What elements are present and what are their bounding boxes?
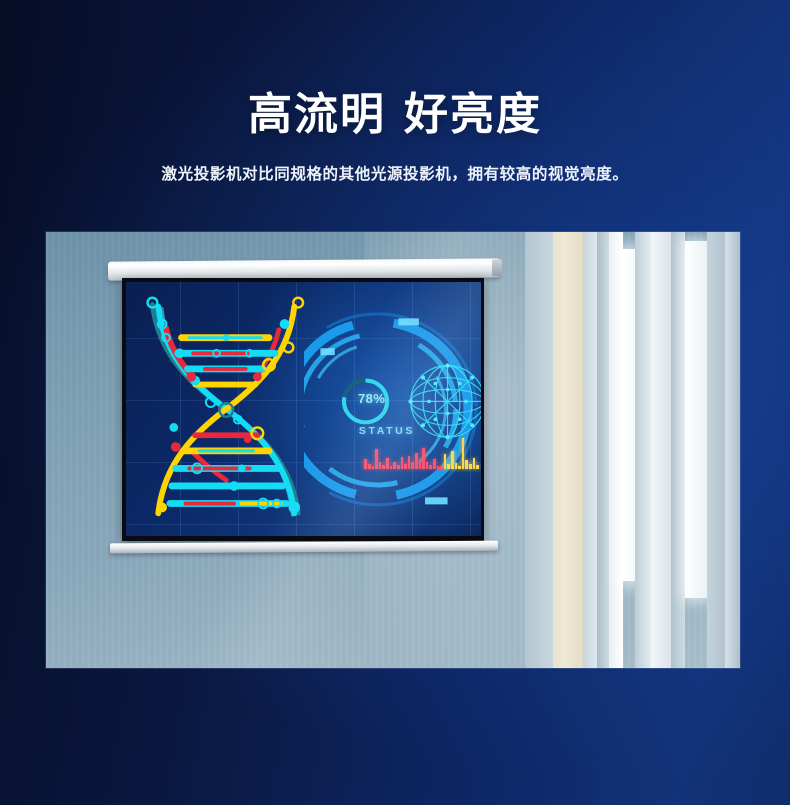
bar-7 bbox=[386, 458, 389, 469]
window-frame-right bbox=[671, 232, 685, 668]
bar-12 bbox=[404, 464, 407, 469]
bar-13 bbox=[408, 456, 411, 469]
headline-part-1: 高流明 bbox=[248, 90, 386, 139]
projection-screen-unit: 78% STATUS bbox=[108, 260, 500, 552]
bar-22 bbox=[440, 466, 443, 468]
bar-3 bbox=[372, 466, 375, 469]
bar-24 bbox=[447, 464, 450, 468]
hud-svg bbox=[304, 290, 482, 529]
window-frame-left bbox=[597, 232, 609, 668]
bar-5 bbox=[379, 462, 382, 468]
hud-status-label: STATUS bbox=[359, 425, 415, 437]
bar-11 bbox=[401, 457, 404, 469]
bar-19 bbox=[429, 465, 432, 469]
hud-bar-chart bbox=[364, 438, 478, 469]
window-bright-1 bbox=[609, 232, 623, 668]
bar-31 bbox=[473, 458, 476, 469]
page-subtitle: 激光投影机对比同规格的其他光源投影机，拥有较高的视觉亮度。 bbox=[0, 162, 790, 184]
bar-15 bbox=[415, 453, 418, 469]
bar-1 bbox=[364, 459, 367, 468]
headline-part-2: 好亮度 bbox=[404, 90, 542, 139]
bar-2 bbox=[368, 464, 371, 468]
bar-27 bbox=[458, 466, 461, 469]
bar-29 bbox=[465, 460, 468, 469]
roller-end-cap-icon bbox=[492, 259, 502, 276]
window-curtain-column bbox=[525, 232, 740, 668]
dna-double-helix-graphic bbox=[133, 287, 318, 531]
bar-28 bbox=[462, 438, 465, 469]
hud-percent-label: 78% bbox=[358, 391, 386, 406]
curtain-strip-2 bbox=[583, 232, 597, 668]
curtain-strip-3 bbox=[707, 232, 725, 668]
hud-graphic: 78% STATUS bbox=[304, 290, 482, 529]
bar-32 bbox=[476, 465, 479, 469]
curtain-strip-1 bbox=[525, 232, 553, 668]
dna-svg bbox=[133, 287, 318, 531]
window-bright-2 bbox=[651, 232, 671, 668]
window-highlight bbox=[623, 249, 635, 580]
screen-bottom-weight-bar[interactable] bbox=[110, 541, 498, 554]
curtain-strip-4 bbox=[725, 232, 740, 668]
window-frame-mid bbox=[635, 232, 651, 668]
screen-frame: 78% STATUS bbox=[122, 278, 484, 541]
bar-30 bbox=[469, 464, 472, 469]
bar-18 bbox=[426, 462, 429, 469]
bar-20 bbox=[433, 459, 436, 468]
page-title: 高流明好亮度 bbox=[0, 78, 790, 142]
bar-4 bbox=[375, 449, 378, 468]
bar-26 bbox=[455, 463, 458, 469]
window-bright-3 bbox=[685, 241, 707, 599]
bar-10 bbox=[397, 465, 400, 469]
bar-8 bbox=[390, 466, 393, 469]
curtain-strip-cream bbox=[553, 232, 583, 668]
bar-6 bbox=[382, 465, 385, 469]
promo-page: 高流明好亮度 激光投影机对比同规格的其他光源投影机，拥有较高的视觉亮度。 bbox=[0, 0, 790, 805]
bar-14 bbox=[411, 462, 414, 468]
bar-23 bbox=[444, 454, 447, 469]
bar-9 bbox=[393, 462, 396, 469]
bar-17 bbox=[422, 448, 425, 468]
bar-16 bbox=[419, 461, 422, 469]
projected-surface: 78% STATUS bbox=[126, 282, 481, 536]
bar-25 bbox=[451, 451, 454, 469]
bar-21 bbox=[437, 466, 440, 469]
product-scene-photo: 78% STATUS bbox=[46, 232, 740, 668]
